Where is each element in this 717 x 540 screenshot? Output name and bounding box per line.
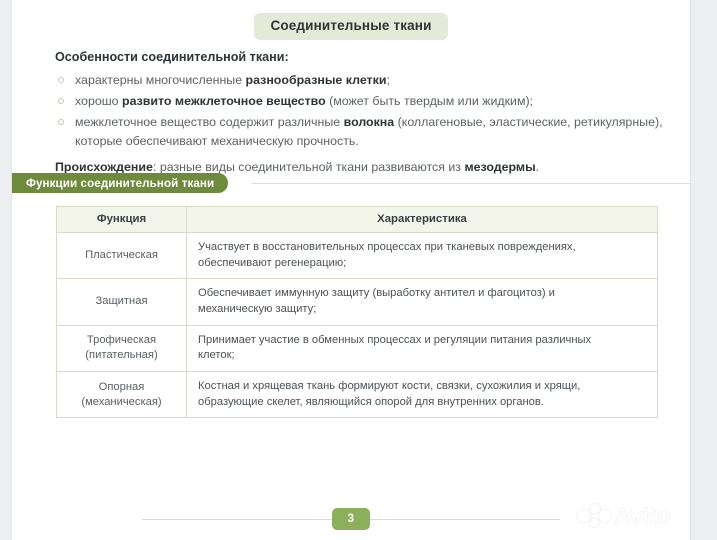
feature-text: (может быть твердым или жидким); xyxy=(326,94,533,108)
cell-characteristic: Участвует в восстановительных процессах … xyxy=(187,233,658,279)
table-row: Трофическая(питательная)Принимает участи… xyxy=(57,325,658,371)
page-right-margin xyxy=(690,0,717,540)
feature-text: ; xyxy=(386,73,389,87)
table-head: Функция Характеристика xyxy=(57,207,658,233)
section-banner-rule xyxy=(252,183,690,184)
feature-text: межклеточное вещество содержит различные xyxy=(75,115,344,129)
column-header-function: Функция xyxy=(57,207,187,233)
cell-function: Опорная(механическая) xyxy=(57,372,187,418)
function-name-subtitle: (механическая) xyxy=(81,396,161,408)
characteristic-line: Принимает участие в обменных процессах и… xyxy=(198,333,647,349)
functions-table: Функция Характеристика ПластическаяУчаст… xyxy=(56,206,658,418)
page-number-badge: 3 xyxy=(332,508,370,530)
origin-emphasis: мезодермы xyxy=(464,160,535,174)
characteristic-line: механическую защиту; xyxy=(198,302,647,318)
cell-characteristic: Костная и хрящевая ткань формируют кости… xyxy=(187,372,658,418)
function-name: Опорная xyxy=(99,381,145,393)
characteristic-line: образующие скелет, являющийся опорой для… xyxy=(198,395,647,411)
function-name: Трофическая xyxy=(87,334,156,346)
characteristic-line: обеспечивают регенерацию; xyxy=(198,256,647,272)
characteristic-line: клеток; xyxy=(198,348,647,364)
feature-text: хорошо xyxy=(75,94,122,108)
feature-text: характерны многочисленные xyxy=(75,73,246,87)
features-list: характерны многочисленные разнообразные … xyxy=(55,71,665,150)
document-viewport: Соединительные ткани Особенности соедини… xyxy=(0,0,717,540)
feature-list-item: характерны многочисленные разнообразные … xyxy=(55,71,665,90)
feature-list-item: хорошо развито межклеточное вещество (мо… xyxy=(55,92,665,111)
origin-separator: : xyxy=(153,160,160,174)
characteristic-line: Костная и хрящевая ткань формируют кости… xyxy=(198,379,647,395)
document-page: Соединительные ткани Особенности соедини… xyxy=(12,0,690,540)
column-header-characteristic: Характеристика xyxy=(187,207,658,233)
page-footer: 3 xyxy=(12,508,690,532)
origin-text-end: . xyxy=(536,160,539,174)
page-left-margin xyxy=(0,0,12,540)
function-name: Защитная xyxy=(95,295,147,307)
cell-characteristic: Обеспечивает иммунную защиту (выработку … xyxy=(187,279,658,325)
functions-table-container: Функция Характеристика ПластическаяУчаст… xyxy=(56,206,658,418)
function-name: Пластическая xyxy=(85,249,158,261)
section-banner-label: Функции соединительной ткани xyxy=(12,173,228,193)
characteristic-line: Обеспечивает иммунную защиту (выработку … xyxy=(198,286,647,302)
page-title-container: Соединительные ткани xyxy=(12,13,690,40)
section-banner: Функции соединительной ткани xyxy=(12,173,690,193)
function-name-subtitle: (питательная) xyxy=(85,349,157,361)
characteristic-line: Участвует в восстановительных процессах … xyxy=(198,240,647,256)
feature-emphasis: разнообразные клетки xyxy=(246,73,387,87)
origin-text: разные виды соединительной ткани развива… xyxy=(160,160,465,174)
origin-label: Происхождение xyxy=(55,160,153,174)
cell-function: Защитная xyxy=(57,279,187,325)
feature-emphasis: развито межклеточное вещество xyxy=(122,94,326,108)
table-row: ПластическаяУчаствует в восстановительны… xyxy=(57,233,658,279)
table-body: ПластическаяУчаствует в восстановительны… xyxy=(57,233,658,418)
cell-function: Трофическая(питательная) xyxy=(57,325,187,371)
cell-function: Пластическая xyxy=(57,233,187,279)
feature-list-item: межклеточное вещество содержит различные… xyxy=(55,113,665,151)
page-title: Соединительные ткани xyxy=(254,13,447,40)
feature-emphasis: волокна xyxy=(344,115,395,129)
table-header-row: Функция Характеристика xyxy=(57,207,658,233)
cell-characteristic: Принимает участие в обменных процессах и… xyxy=(187,325,658,371)
table-row: ЗащитнаяОбеспечивает иммунную защиту (вы… xyxy=(57,279,658,325)
intro-block: Особенности соединительной ткани: характ… xyxy=(55,48,665,189)
intro-heading: Особенности соединительной ткани: xyxy=(55,48,665,67)
table-row: Опорная(механическая)Костная и хрящевая … xyxy=(57,372,658,418)
